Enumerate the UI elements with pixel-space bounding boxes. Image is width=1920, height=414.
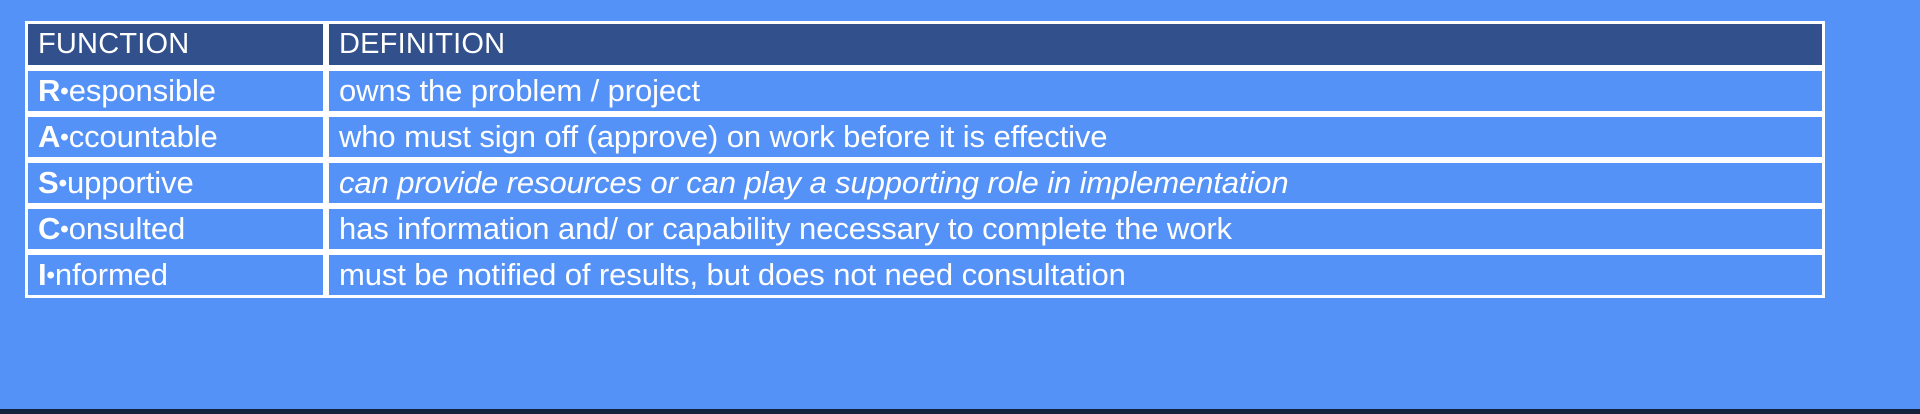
function-remainder: onsulted [69,211,185,246]
definition-cell: has information and/ or capability neces… [326,206,1825,252]
table-row: I•nformed must be notified of results, b… [25,252,1825,298]
table-row: C•onsulted has information and/ or capab… [25,206,1825,252]
bullet-icon: • [59,170,67,197]
table-body: R•esponsible owns the problem / project … [25,68,1825,298]
function-cell: R•esponsible [25,68,326,114]
table-row: S•upportive can provide resources or can… [25,160,1825,206]
slide-canvas: FUNCTION DEFINITION R•esponsible owns th… [0,0,1920,414]
function-remainder: upportive [67,165,194,200]
function-initial: S [38,165,59,200]
column-header-function: FUNCTION [25,21,326,68]
function-cell: C•onsulted [25,206,326,252]
table-row: R•esponsible owns the problem / project [25,68,1825,114]
column-header-definition: DEFINITION [326,21,1825,68]
table-row: A•ccountable who must sign off (approve)… [25,114,1825,160]
function-remainder: ccountable [69,119,218,154]
function-cell: I•nformed [25,252,326,298]
definition-cell: owns the problem / project [326,68,1825,114]
function-cell: A•ccountable [25,114,326,160]
function-remainder: esponsible [69,73,216,108]
definition-cell: must be notified of results, but does no… [326,252,1825,298]
function-initial: R [38,73,60,108]
bullet-icon: • [60,78,68,105]
bullet-icon: • [47,262,55,289]
function-remainder: nformed [55,257,168,292]
function-initial: I [38,257,47,292]
slide-bottom-rule [0,409,1920,414]
table-header-row: FUNCTION DEFINITION [25,21,1825,68]
definition-cell: can provide resources or can play a supp… [326,160,1825,206]
function-cell: S•upportive [25,160,326,206]
function-initial: A [38,119,60,154]
raci-definitions-table: FUNCTION DEFINITION R•esponsible owns th… [25,21,1825,298]
bullet-icon: • [60,124,68,151]
table-header: FUNCTION DEFINITION [25,21,1825,68]
bullet-icon: • [60,216,68,243]
function-initial: C [38,211,60,246]
definition-cell: who must sign off (approve) on work befo… [326,114,1825,160]
